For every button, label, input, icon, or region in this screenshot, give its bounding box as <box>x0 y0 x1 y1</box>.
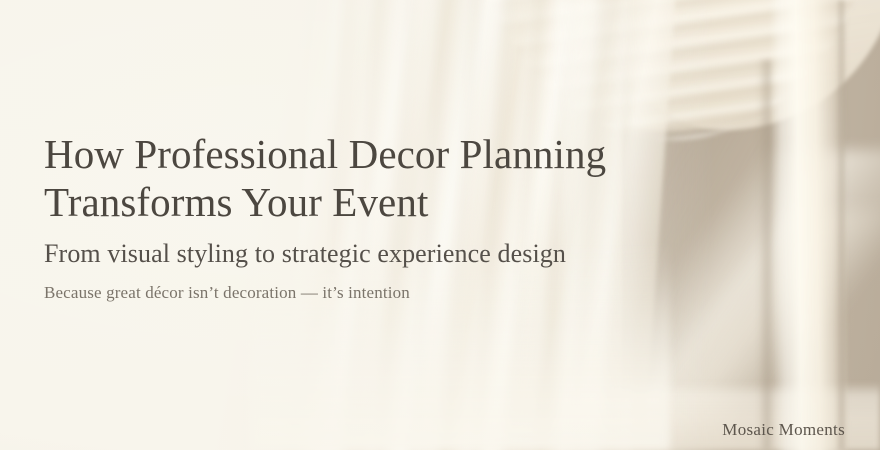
page-title: How Professional Decor Planning Transfor… <box>44 130 644 226</box>
brand-wordmark: Mosaic Moments <box>722 419 845 441</box>
hero-text-block: How Professional Decor Planning Transfor… <box>44 130 644 304</box>
page-subtitle: From visual styling to strategic experie… <box>44 238 644 270</box>
page-tagline: Because great décor isn’t decoration — i… <box>44 282 644 304</box>
title-slide: How Professional Decor Planning Transfor… <box>0 0 880 450</box>
pillar-edge-shadow <box>836 0 846 450</box>
